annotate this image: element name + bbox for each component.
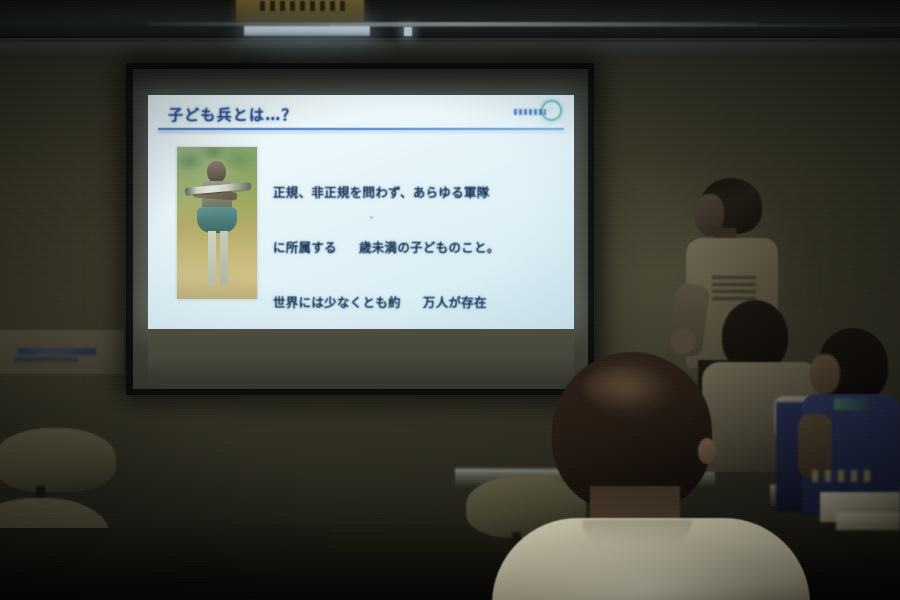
handout-papers-secondary [836, 512, 900, 530]
slide-title: 子ども兵とは…？ [168, 104, 298, 125]
ceiling-lamp-indicator [404, 27, 412, 36]
student-shirt-collar [582, 520, 692, 544]
presenter-shirt-print [712, 274, 756, 300]
slide-title-underline [158, 128, 564, 130]
ngo-circle-logo [508, 100, 564, 124]
presenter-hand [670, 328, 696, 354]
slide-body-line-2b: 歳未満の子どものこと。 [359, 240, 500, 255]
classroom-photo-scene: 子ども兵とは…？ 正規、非正規を問わず、あらゆる軍隊 に所属する歳未満の子どもの… [0, 0, 900, 600]
slide-body-line-3b: 万人が存在 [423, 295, 487, 310]
logo-wordmark [514, 109, 546, 115]
projection-screen-top-shadow [133, 69, 588, 95]
student-ear [698, 438, 716, 464]
photo-projector-glare [177, 147, 257, 299]
whiteboard-writing-secondary [14, 357, 78, 362]
ceiling [0, 0, 900, 42]
student-hair-highlight [582, 366, 668, 410]
ceiling-sign-text [260, 1, 346, 11]
slide-body-line-2a: に所属する [273, 240, 337, 255]
chair-left-upper [0, 428, 116, 492]
slide-body-line-1: 正規、非正規を問わず、あらゆる軍隊 [273, 184, 563, 202]
projected-slide: 子ども兵とは…？ 正規、非正規を問わず、あらゆる軍隊 に所属する歳未満の子どもの… [148, 95, 574, 329]
ceiling-rail-secondary [330, 24, 900, 27]
seated-right-collar [834, 398, 868, 410]
foreground-student [486, 352, 816, 600]
slide-stray-dot [370, 216, 373, 219]
slide-title-underline-glow [158, 131, 564, 133]
whiteboard-writing [18, 348, 96, 355]
desk-items [812, 470, 872, 482]
slide-body-text: 正規、非正規を問わず、あらゆる軍隊 に所属する歳未満の子どものこと。 世界には少… [273, 147, 563, 329]
slide-body-line-2: に所属する歳未満の子どものこと。 [273, 239, 563, 257]
slide-body-line-3: 世界には少なくとも約万人が存在 [273, 294, 563, 312]
slide-body-line-3a: 世界には少なくとも約 [273, 295, 401, 310]
child-soldier-photo [177, 147, 257, 299]
